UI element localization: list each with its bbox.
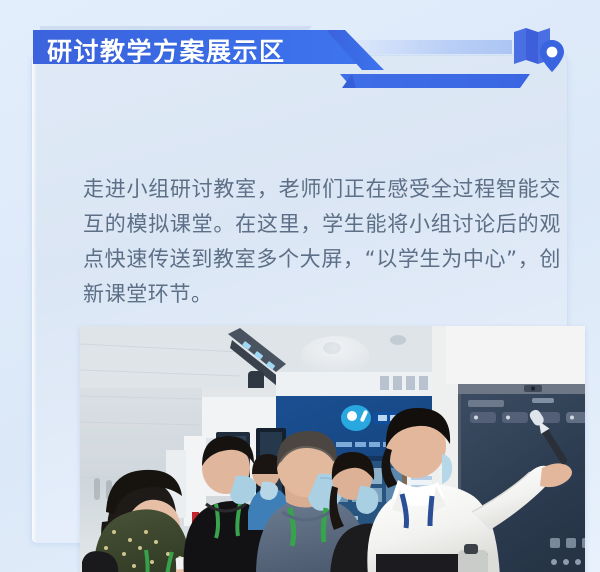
content-card: 走进小组研讨教室，老师们正在感受全过程智能交互的模拟课堂。在这里，学生能将小组讨…: [31, 55, 568, 544]
photo-frame: [80, 326, 585, 572]
body-paragraph: 走进小组研讨教室，老师们正在感受全过程智能交互的模拟课堂。在这里，学生能将小组讨…: [83, 172, 561, 312]
page-background: 走进小组研讨教室，老师们正在感受全过程智能交互的模拟课堂。在这里，学生能将小组讨…: [0, 0, 600, 572]
exhibition-classroom-photo: [80, 326, 585, 572]
